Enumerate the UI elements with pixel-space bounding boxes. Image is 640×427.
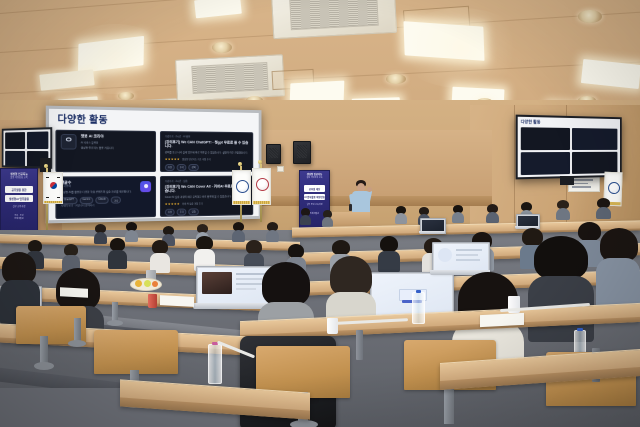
chat-card-footer: 자세히 보기 · 커뮤니티 참여하기: [61, 203, 151, 208]
audience-member: [556, 200, 570, 219]
flag-emblem-icon: [236, 180, 249, 193]
water-bottle[interactable]: [412, 292, 425, 324]
ceiling-led-panel: [404, 21, 485, 61]
audience-member: [300, 208, 311, 224]
chip: 추천: [165, 164, 175, 171]
flag-emblem-icon: [256, 178, 269, 191]
star-icon: [171, 203, 174, 206]
desk-leg: [356, 330, 363, 360]
chair-foot: [68, 340, 86, 347]
ac-cassette: [271, 0, 397, 39]
audience-member: [395, 206, 407, 223]
mini-card: [521, 152, 570, 175]
flag-finial: [44, 164, 48, 168]
review1-title: [강의후기] We CAN ChatGPT! - 챗gpt 무료로 쓸 수 있습…: [165, 140, 249, 150]
banner-left: 생성형 인공지능 활용 역량강화 교육 공무원을 위한 생성형AI 업무활용 실…: [0, 168, 38, 232]
star-icon: [177, 203, 180, 206]
side-monitor-right[interactable]: 다양한 활동: [516, 115, 622, 180]
slide-card-brand: ᄋ 챗봇 AI 코리아 AI 서비스 플랫폼 생성형 인공지능 활용 커뮤니티: [55, 129, 156, 172]
mini-card: [572, 128, 617, 150]
ceiling-led-panel: [581, 59, 640, 89]
ac-cassette: [175, 54, 285, 102]
ceiling-downlight: [386, 74, 406, 84]
lecture-hall-photo: 다양한 활동 ᄋ 챗봇 AI 코리아 AI 서비스 플랫폼 생성형 인공지능 활…: [0, 0, 640, 427]
banner-podium-highlight-1: 공무원 대상: [304, 185, 325, 191]
banner-podium-heading-2: 활용 역량강화 교육: [300, 177, 329, 180]
star-icon: [168, 158, 171, 161]
notepad[interactable]: [60, 287, 88, 297]
chip: 추천: [165, 208, 175, 215]
laptop[interactable]: [516, 214, 538, 229]
mini-card: [521, 127, 570, 150]
audience-member: [486, 204, 499, 222]
chair-foot: [34, 362, 54, 370]
flag-finial: [238, 162, 242, 166]
chip: Claude: [95, 197, 109, 204]
brand-card-subtitle: AI 서비스 플랫폼: [81, 140, 114, 144]
brand-card-meta: 생성형 인공지능 활용 커뮤니티: [81, 146, 114, 150]
chair-back[interactable]: [94, 330, 178, 374]
notepad[interactable]: [480, 313, 524, 327]
star-icon: [177, 158, 180, 161]
wall-speaker-left: [266, 144, 281, 164]
banner-podium-highlight-3: 실무 중심 교육과정: [300, 204, 329, 207]
review2-chips: 추천 후기 실습: [165, 207, 249, 215]
ceiling-led-panel: [39, 69, 94, 91]
review1-body: 강의를 듣고 나서 실제 업무에 바로 적용할 수 있었습니다. 설명이 아주 …: [165, 151, 249, 155]
banner-left-highlight-2: 생성형AI 업무활용: [5, 195, 33, 202]
review2-rating-label: 커버 AI 실습 과정 후기: [182, 202, 203, 206]
banner-podium-highlight-2: AI 업무활용 역량강화: [304, 194, 325, 200]
ceiling-downlight: [118, 92, 134, 100]
star-icon: [165, 203, 168, 206]
notepad[interactable]: [160, 295, 194, 307]
ceiling-downlight: [578, 10, 602, 23]
chair-post: [444, 384, 454, 424]
paper-cup[interactable]: [327, 318, 338, 334]
projection-screen[interactable]: 다양한 활동 ᄋ 챗봇 AI 코리아 AI 서비스 플랫폼 생성형 인공지능 활…: [46, 106, 262, 224]
presentation-slide: 다양한 활동 ᄋ 챗봇 AI 코리아 AI 서비스 플랫폼 생성형 인공지능 활…: [49, 109, 259, 220]
chip: 강의: [189, 164, 199, 171]
audience-member: [596, 198, 611, 218]
laptop[interactable]: [432, 242, 488, 276]
review1-rating: 생성형 인공지능 기초 과정 후기: [165, 157, 249, 161]
slide-card-chat: 댓글수 AI 기반의 생성형 AI를 활용한 다양한 학습 콘텐츠와 실습 자료…: [55, 176, 156, 219]
korean-flag: [43, 172, 63, 204]
ceiling-downlight: [212, 42, 232, 53]
banner-left-highlight-1: 공무원을 위한: [5, 186, 33, 193]
audience-member: [194, 236, 215, 270]
institution-flag-2: [252, 168, 271, 205]
wall-outlet: [277, 166, 284, 172]
mini-card: [572, 151, 617, 173]
chip: 후기: [177, 208, 187, 215]
slide-title: 다양한 활동: [58, 115, 254, 128]
audience-member: [452, 205, 464, 222]
flag-emblem-icon: [608, 182, 620, 194]
review1-meta: 수강후기 · 2시간 · AI 활용: [165, 135, 249, 139]
wall-speaker-right: [293, 141, 311, 164]
review1-rating-label: 생성형 인공지능 기초 과정 후기: [182, 157, 211, 161]
audience-member: [322, 210, 333, 226]
banner-left-footer-2: 인재개발원: [1, 218, 37, 221]
banner-left-heading-2: 활용 역량강화 교육: [1, 177, 37, 180]
audience-member: [150, 240, 170, 272]
brand-logo-icon: ᄋ: [61, 134, 77, 150]
audience-member: [232, 222, 245, 241]
avatar-icon: [140, 181, 151, 192]
flag-finial: [258, 160, 262, 164]
chair-foot: [290, 420, 318, 427]
audience-member: [378, 236, 400, 271]
star-icon: [174, 203, 177, 206]
water-bottle[interactable]: [208, 344, 222, 384]
chair-foot: [107, 320, 123, 326]
star-icon: [168, 203, 171, 206]
ceiling-led-panel: [78, 36, 144, 73]
chat-card-body: 생성형 AI를 활용한 다양한 학습 콘텐츠와 실습 자료를 제공합니다.: [61, 190, 151, 195]
presenter-hand: [367, 187, 372, 192]
chat-card-subtitle: AI 기반의: [61, 184, 151, 188]
institution-flag-1: [232, 170, 251, 205]
side-monitor-slide-title: 다양한 활동: [521, 119, 620, 127]
fruit-plate: [130, 278, 162, 291]
banner-left-highlight-3: 실무 교육과정: [1, 206, 37, 209]
chip: 후기: [177, 164, 187, 171]
laptop[interactable]: [420, 218, 444, 234]
monitor-right-mount: [560, 176, 574, 185]
star-icon: [171, 158, 174, 161]
audience-member: [266, 222, 279, 241]
microphone-icon: [349, 204, 352, 211]
star-icon: [165, 158, 168, 161]
star-icon: [174, 158, 177, 161]
drink-cup[interactable]: [148, 294, 157, 308]
chip: 실습: [189, 208, 199, 215]
brand-card-title: 챗봇 AI 코리아: [81, 134, 114, 139]
audience-member: [108, 238, 127, 268]
audience-member: [94, 224, 107, 243]
ceiling-led-panel: [194, 0, 242, 18]
